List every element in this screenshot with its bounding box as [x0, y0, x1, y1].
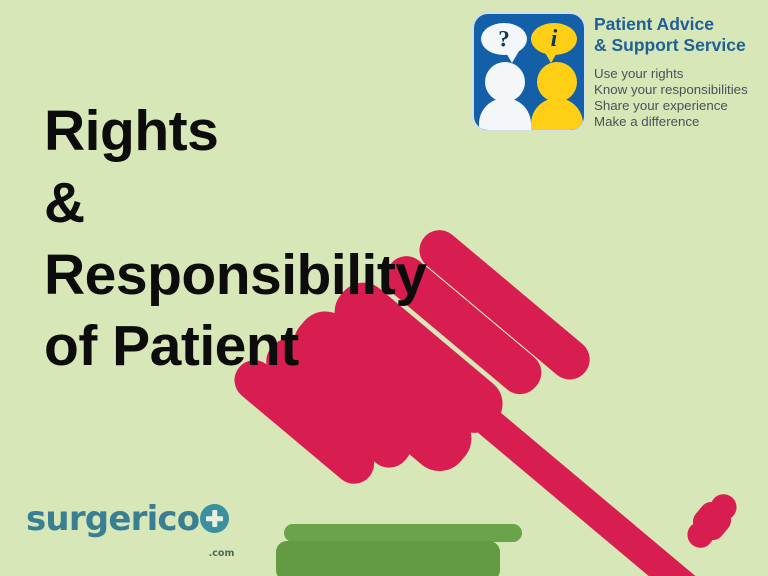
patient-advice-support-service-logo: ? i Patient Advice & Support Service Use… [466, 8, 762, 136]
pass-tagline-1: Use your rights [594, 66, 762, 82]
title-line-4: of Patient [44, 311, 464, 383]
pass-tagline-list: Use your rights Know your responsibiliti… [594, 66, 762, 131]
pass-tagline-2: Know your responsibilities [594, 82, 762, 98]
brand-tld-suffix: .com [209, 548, 235, 559]
info-speech-bubble-icon: i [531, 23, 577, 55]
person-body [479, 98, 531, 132]
person-figure-yellow-icon [531, 62, 583, 132]
pass-heading-line-1: Patient Advice [594, 14, 762, 35]
gavel-sound-block [276, 524, 522, 576]
pass-logo-mark: ? i [472, 12, 586, 132]
pass-tagline-4: Make a difference [594, 114, 762, 130]
person-figure-white-icon [479, 62, 531, 132]
title-line-3: Responsibility [44, 240, 464, 312]
info-glyph: i [531, 27, 577, 51]
page-title: Rights & Responsibility of Patient [44, 96, 464, 383]
pass-heading-line-2: & Support Service [594, 35, 762, 56]
brand-wordmark: surgerico [26, 502, 199, 536]
title-line-1: Rights [44, 96, 464, 168]
cross-circle [200, 504, 229, 533]
person-body [531, 98, 583, 132]
surgerico-brand-logo[interactable]: surgerico .com [26, 502, 230, 554]
slide-canvas: Rights & Responsibility of Patient ? i [0, 0, 768, 576]
question-speech-bubble-icon: ? [481, 23, 527, 55]
title-line-2: & [44, 168, 464, 240]
question-mark-glyph: ? [481, 28, 527, 51]
person-head [485, 62, 525, 102]
pass-logo-text: Patient Advice & Support Service Use you… [594, 14, 762, 131]
medical-cross-icon [200, 504, 230, 534]
person-head [537, 62, 577, 102]
pass-tagline-3: Share your experience [594, 98, 762, 114]
